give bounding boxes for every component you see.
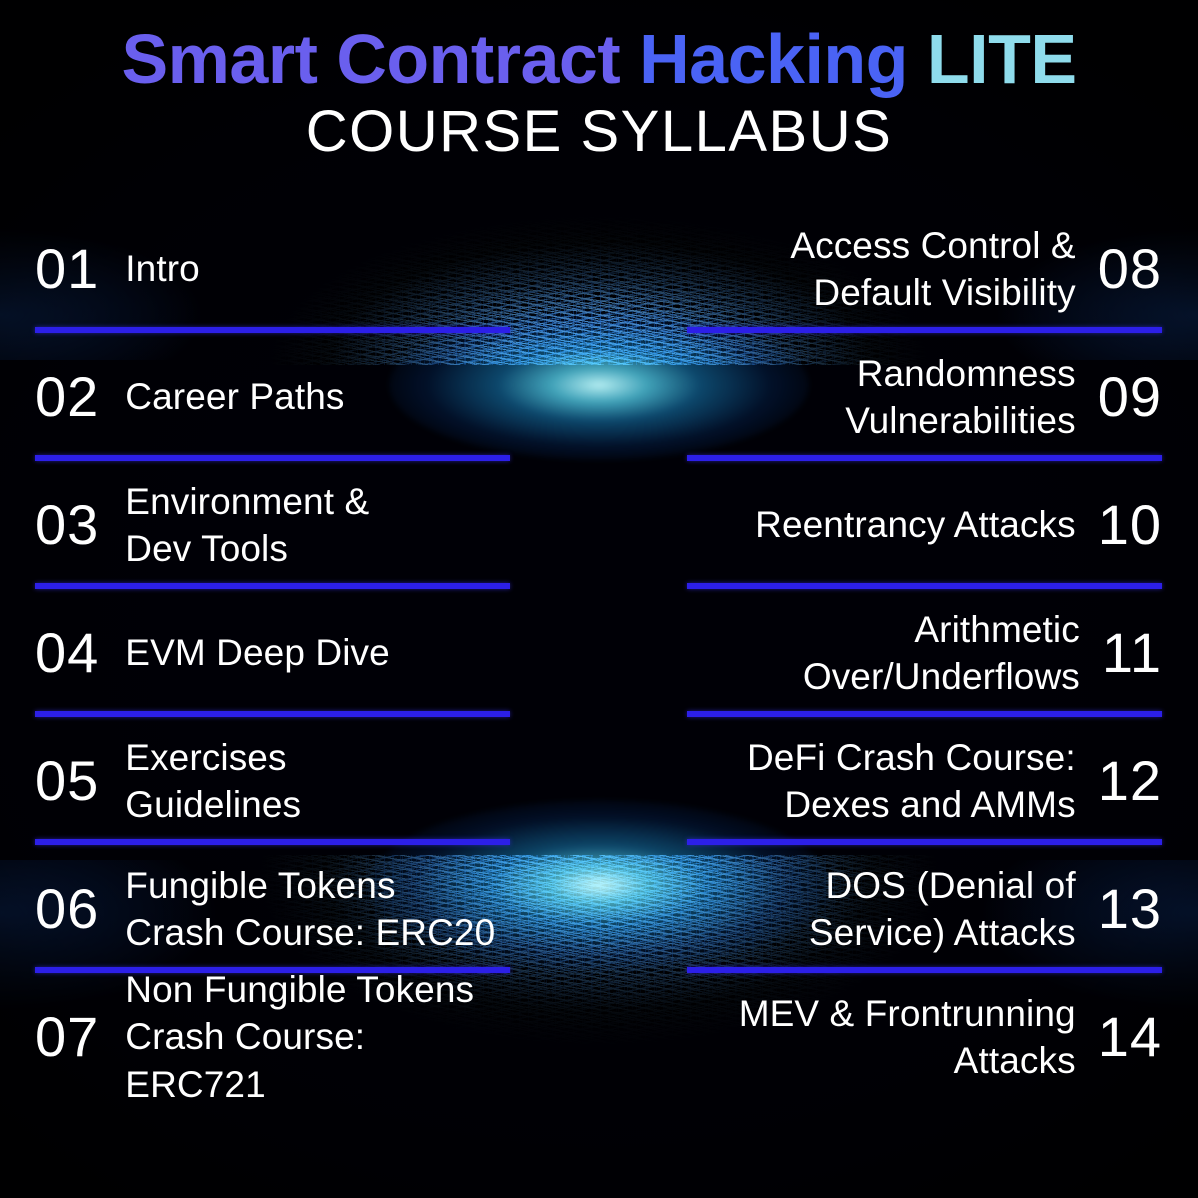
syllabus-item: 14 MEV & FrontrunningAttacks: [687, 973, 1162, 1101]
syllabus-item: 01 Intro: [35, 205, 510, 333]
item-number: 07: [35, 1009, 99, 1065]
title-segment-lite: LITE: [927, 20, 1077, 98]
syllabus-item: 06 Fungible TokensCrash Course: ERC20: [35, 845, 510, 973]
item-label: RandomnessVulnerabilities: [845, 350, 1075, 445]
item-label: ExercisesGuidelines: [125, 734, 301, 829]
item-label: MEV & FrontrunningAttacks: [739, 990, 1076, 1085]
item-label: Reentrancy Attacks: [755, 501, 1076, 548]
item-label: DOS (Denial ofService) Attacks: [809, 862, 1076, 957]
syllabus-item: 04 EVM Deep Dive: [35, 589, 510, 717]
syllabus-columns: 01 Intro 02 Career Paths 03 Environment …: [0, 205, 1198, 1190]
item-label: ArithmeticOver/Underflows: [803, 606, 1080, 701]
item-number: 08: [1098, 241, 1162, 297]
item-label: Fungible TokensCrash Course: ERC20: [125, 862, 495, 957]
poster-header: Smart Contract Hacking LITE COURSE SYLLA…: [0, 0, 1198, 163]
item-number: 13: [1098, 881, 1162, 937]
item-label: DeFi Crash Course:Dexes and AMMs: [747, 734, 1076, 829]
item-number: 04: [35, 625, 99, 681]
item-number: 09: [1098, 369, 1162, 425]
syllabus-item: 12 DeFi Crash Course:Dexes and AMMs: [687, 717, 1162, 845]
syllabus-item: 02 Career Paths: [35, 333, 510, 461]
title-segment-smart-contract: Smart Contract: [121, 20, 639, 98]
item-number: 01: [35, 241, 99, 297]
syllabus-item: 07 Non Fungible TokensCrash Course: ERC7…: [35, 973, 510, 1101]
item-number: 11: [1102, 625, 1162, 681]
item-number: 03: [35, 497, 99, 553]
item-number: 05: [35, 753, 99, 809]
page-subtitle: COURSE SYLLABUS: [0, 96, 1198, 163]
syllabus-item: 10 Reentrancy Attacks: [687, 461, 1162, 589]
item-label: Career Paths: [125, 373, 344, 420]
item-number: 10: [1098, 497, 1162, 553]
item-label: Intro: [125, 245, 200, 292]
item-label: EVM Deep Dive: [125, 629, 390, 676]
item-number: 02: [35, 369, 99, 425]
item-label: Environment &Dev Tools: [125, 478, 369, 573]
syllabus-left-column: 01 Intro 02 Career Paths 03 Environment …: [0, 205, 599, 1190]
syllabus-item: 05 ExercisesGuidelines: [35, 717, 510, 845]
syllabus-poster: Smart Contract Hacking LITE COURSE SYLLA…: [0, 0, 1198, 1198]
item-label: Access Control &Default Visibility: [790, 222, 1075, 317]
item-label: Non Fungible TokensCrash Course: ERC721: [125, 966, 510, 1108]
item-number: 06: [35, 881, 99, 937]
syllabus-item: 08 Access Control &Default Visibility: [687, 205, 1162, 333]
page-title: Smart Contract Hacking LITE: [0, 0, 1198, 96]
syllabus-right-column: 08 Access Control &Default Visibility 09…: [599, 205, 1198, 1190]
syllabus-item: 11 ArithmeticOver/Underflows: [687, 589, 1162, 717]
title-segment-hacking: Hacking: [639, 20, 927, 98]
syllabus-item: 03 Environment &Dev Tools: [35, 461, 510, 589]
item-number: 12: [1098, 753, 1162, 809]
item-number: 14: [1098, 1009, 1162, 1065]
syllabus-item: 13 DOS (Denial ofService) Attacks: [687, 845, 1162, 973]
syllabus-item: 09 RandomnessVulnerabilities: [687, 333, 1162, 461]
